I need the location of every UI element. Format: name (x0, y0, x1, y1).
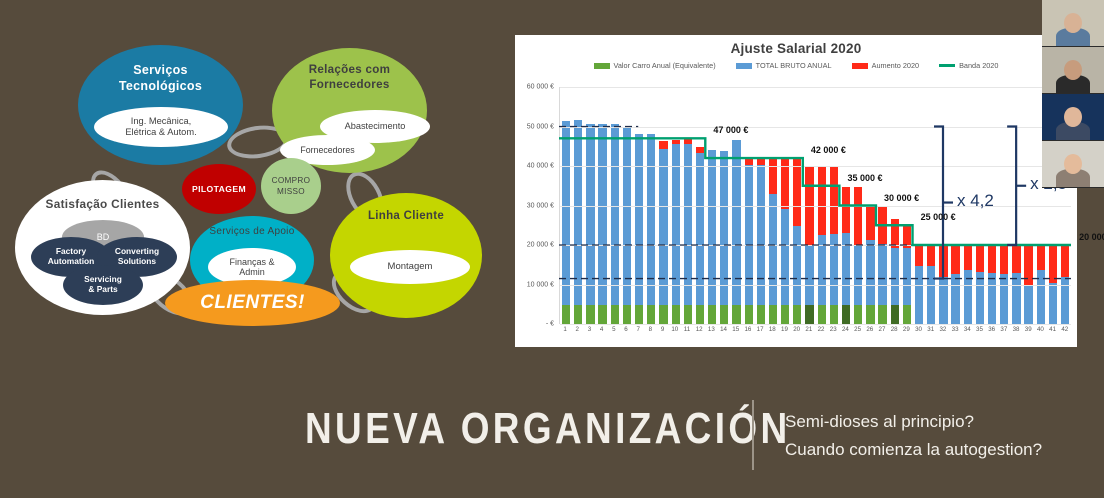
bar-segment (988, 273, 996, 324)
x-tick-label: 23 (827, 326, 839, 333)
x-tick-label: 35 (973, 326, 985, 333)
bubble-pilotagem[interactable]: PILOTAGEM (182, 164, 256, 214)
chart-title: Ajuste Salarial 2020 (515, 35, 1077, 56)
bar-segment (1037, 245, 1045, 269)
x-tick-label: 7 (632, 326, 644, 333)
x-tick-label: 41 (1047, 326, 1059, 333)
x-tick-label: 10 (669, 326, 681, 333)
bar-segment (793, 159, 801, 227)
bubble-title: COMPRO MISSO (272, 175, 311, 198)
bar-segment (623, 305, 631, 324)
bar-segment (659, 141, 667, 149)
legend-swatch (939, 64, 955, 67)
x-tick-label: 6 (620, 326, 632, 333)
bar-segment (745, 305, 753, 324)
x-tick-label: 38 (1010, 326, 1022, 333)
legend-label: Banda 2020 (959, 61, 998, 70)
legend-item: Aumento 2020 (852, 61, 919, 70)
bar-segment (720, 305, 728, 324)
bar-segment (805, 305, 813, 324)
y-tick-label: 10 000 € (527, 281, 554, 288)
x-tick-label: 9 (657, 326, 669, 333)
x-tick-label: 34 (961, 326, 973, 333)
y-tick-label: 50 000 € (527, 123, 554, 130)
bubble-linha-cliente[interactable]: Linha Cliente Montagem (330, 193, 482, 318)
bar-segment (1037, 270, 1045, 325)
bar-segment (696, 153, 704, 306)
plot (559, 87, 1071, 324)
y-axis-labels: - €10 000 €20 000 €30 000 €40 000 €50 00… (515, 87, 557, 324)
chart-legend: Valor Carro Anual (Equivalente)TOTAL BRU… (515, 61, 1077, 70)
bar-segment (586, 124, 594, 305)
bar-segment (574, 120, 582, 305)
bar-segment (878, 244, 886, 305)
bar-segment (635, 305, 643, 324)
x-tick-label: 12 (693, 326, 705, 333)
x-tick-label: 14 (717, 326, 729, 333)
bar-segment (915, 245, 923, 266)
page-title: NUEVA ORGANIZACIÓN (305, 404, 791, 454)
bar-segment (939, 245, 947, 277)
stacked-bar (720, 151, 728, 324)
stacked-bar (745, 159, 753, 324)
bubble-title: PILOTAGEM (192, 184, 246, 194)
bar-segment (647, 305, 655, 324)
bar-segment (964, 245, 972, 269)
legend-swatch (736, 63, 752, 69)
organization-diagram: Serviços Tecnológicos Ing. Mecânica, Elé… (0, 30, 500, 330)
bar-segment (1012, 245, 1020, 273)
bar-segment (878, 305, 886, 324)
chart-card: Ajuste Salarial 2020 Valor Carro Anual (… (515, 35, 1077, 347)
x-tick-label: 5 (608, 326, 620, 333)
bar-segment (878, 207, 886, 245)
x-tick-label: 4 (596, 326, 608, 333)
x-tick-label: 11 (681, 326, 693, 333)
video-tile-participant-2[interactable] (1042, 47, 1104, 94)
x-tick-label: 37 (998, 326, 1010, 333)
stacked-bar (635, 134, 643, 324)
x-tick-label: 21 (803, 326, 815, 333)
bar-segment (842, 305, 850, 324)
stacked-bar (623, 127, 631, 324)
bar-segment (976, 245, 984, 272)
bar-segment (891, 248, 899, 306)
stacked-bar (891, 219, 899, 324)
bar-segment (623, 127, 631, 305)
bar-segment (708, 305, 716, 324)
y-tick-label: - € (546, 321, 554, 328)
bar-segment (818, 167, 826, 235)
bar-segment (1012, 273, 1020, 324)
bar-segment (769, 158, 777, 194)
stacked-bar (611, 124, 619, 324)
bar-segment (659, 149, 667, 305)
bar-segment (586, 305, 594, 324)
x-tick-label: 33 (949, 326, 961, 333)
video-tile-participant-1[interactable] (1042, 0, 1104, 47)
gridline (560, 245, 1071, 246)
bar-segment (903, 305, 911, 324)
bar-segment (866, 207, 874, 240)
x-tick-label: 36 (986, 326, 998, 333)
bubble-inner-montagem[interactable]: Montagem (350, 250, 470, 284)
stacked-bar (842, 187, 850, 324)
bar-segment (757, 305, 765, 324)
participant-head (1064, 154, 1082, 174)
bar-segment (1049, 283, 1057, 324)
video-tile-participant-3[interactable] (1042, 94, 1104, 141)
stacked-bar (781, 158, 789, 324)
x-tick-label: 39 (1022, 326, 1034, 333)
x-tick-label: 42 (1059, 326, 1071, 333)
bar-segment (964, 270, 972, 325)
bar-segment (769, 305, 777, 324)
plot-area: - €10 000 €20 000 €30 000 €40 000 €50 00… (515, 87, 1077, 347)
legend-item: Valor Carro Anual (Equivalente) (594, 61, 716, 70)
bar-segment (854, 187, 862, 246)
stacked-bar (878, 207, 886, 324)
bar-segment (793, 305, 801, 324)
x-tick-label: 32 (937, 326, 949, 333)
x-tick-label: 2 (571, 326, 583, 333)
x-tick-label: 29 (900, 326, 912, 333)
stacked-bar (757, 159, 765, 324)
stacked-bar (562, 121, 570, 324)
x-tick-label: 18 (766, 326, 778, 333)
stacked-bar (586, 124, 594, 324)
stacked-bar (866, 207, 874, 324)
bubble-title: Serviços Tecnológicos (119, 63, 202, 94)
bar-segment (1024, 285, 1032, 324)
subtitle-line-2: Cuando comienza la autogestion? (785, 436, 1042, 464)
x-tick-label: 13 (705, 326, 717, 333)
legend-item: Banda 2020 (939, 61, 998, 70)
x-tick-label: 15 (730, 326, 742, 333)
bubble-satisfacao-clientes[interactable]: Satisfação Clientes BD Factory Automatio… (15, 180, 190, 315)
bar-segment (830, 167, 838, 234)
data-label: 20 000 € (1079, 232, 1104, 242)
y-tick-label: 40 000 € (527, 163, 554, 170)
bar-segment (1049, 245, 1057, 283)
bar-segment (611, 305, 619, 324)
bar-segment (854, 305, 862, 324)
legend-label: TOTAL BRUTO ANUAL (756, 61, 832, 70)
stacked-bar (732, 140, 740, 324)
bar-segment (818, 305, 826, 324)
bar-segment (720, 151, 728, 306)
gridline (560, 166, 1071, 167)
legend-swatch (594, 63, 610, 69)
x-tick-label: 3 (583, 326, 595, 333)
stacked-bar (574, 120, 582, 324)
bar-segment (769, 194, 777, 306)
bar-segment (951, 274, 959, 324)
bar-segment (598, 124, 606, 305)
bar-segment (684, 305, 692, 324)
bar-segment (611, 124, 619, 305)
bubble-compromisso[interactable]: COMPRO MISSO (261, 158, 321, 214)
subtitle: Semi-dioses al principio? Cuando comienz… (785, 408, 1042, 464)
gridline (560, 285, 1071, 286)
x-tick-label: 30 (912, 326, 924, 333)
bar-segment (708, 150, 716, 306)
video-tile-participant-4[interactable] (1042, 141, 1104, 188)
stacked-bar (854, 187, 862, 324)
participant-head (1064, 107, 1082, 127)
bar-segment (1000, 274, 1008, 324)
gridline (560, 87, 1071, 88)
bar-segment (574, 305, 582, 324)
bubble-clientes[interactable]: CLIENTES! (165, 280, 340, 326)
video-participant-strip[interactable] (1042, 0, 1104, 186)
bar-segment (672, 144, 680, 305)
stacked-bar (598, 124, 606, 324)
bar-segment (951, 245, 959, 274)
title-divider (752, 400, 754, 470)
x-tick-label: 40 (1034, 326, 1046, 333)
bar-segment (598, 305, 606, 324)
bar-segment (903, 248, 911, 305)
x-tick-label: 25 (852, 326, 864, 333)
bar-segment (562, 305, 570, 324)
bar-segment (647, 134, 655, 306)
legend-swatch (852, 63, 868, 69)
bar-segment (927, 245, 935, 266)
bar-segment (866, 305, 874, 324)
stacked-bar (708, 150, 716, 324)
bar-segment (891, 305, 899, 324)
bar-segment (891, 219, 899, 248)
participant-head (1064, 60, 1082, 80)
bar-segment (1061, 245, 1069, 277)
bar-segment (805, 245, 813, 305)
bar-segment (866, 240, 874, 306)
bar-segment (1024, 245, 1032, 285)
stacked-bar (793, 159, 801, 325)
bar-segment (781, 209, 789, 305)
bar-segment (1000, 245, 1008, 274)
stacked-bar (903, 226, 911, 324)
stacked-bar (647, 134, 655, 324)
stacked-bar (672, 140, 680, 324)
bar-segment (696, 305, 704, 324)
gridline (560, 324, 1071, 325)
child-servicing-parts[interactable]: Servicing & Parts (63, 265, 143, 305)
x-tick-label: 26 (864, 326, 876, 333)
bar-segment (635, 134, 643, 306)
slide-root: Serviços Tecnológicos Ing. Mecânica, Elé… (0, 0, 1104, 498)
gridline (560, 206, 1071, 207)
x-tick-label: 19 (778, 326, 790, 333)
bar-segment (672, 305, 680, 324)
bar-segment (927, 266, 935, 324)
x-axis-labels: 1234567891011121314151617181920212223242… (559, 326, 1071, 333)
bubble-inner-ing-mecanica[interactable]: Ing. Mecânica, Elétrica & Autom. (94, 107, 228, 147)
bar-segment (854, 246, 862, 305)
bar-segment (842, 187, 850, 233)
bar-segment (842, 233, 850, 306)
bubble-title: Linha Cliente (368, 210, 444, 222)
bar-segment (830, 305, 838, 324)
bubble-title: CLIENTES! (200, 292, 305, 314)
legend-label: Valor Carro Anual (Equivalente) (614, 61, 716, 70)
y-tick-label: 30 000 € (527, 202, 554, 209)
bubble-title: Relações com Fornecedores (309, 62, 391, 92)
bar-segment (915, 266, 923, 324)
x-tick-label: 28 (888, 326, 900, 333)
x-tick-label: 8 (644, 326, 656, 333)
bar-segment (732, 305, 740, 324)
y-tick-label: 60 000 € (527, 84, 554, 91)
bubble-title: Serviços de Apoio (209, 226, 294, 237)
y-tick-label: 20 000 € (527, 242, 554, 249)
bar-segment (659, 305, 667, 324)
x-tick-label: 31 (925, 326, 937, 333)
x-tick-label: 1 (559, 326, 571, 333)
stacked-bar (769, 158, 777, 324)
stacked-bar (696, 147, 704, 324)
x-tick-label: 16 (742, 326, 754, 333)
bar-segment (976, 272, 984, 324)
bar-segment (562, 121, 570, 305)
bar-segment (684, 144, 692, 306)
x-tick-label: 22 (815, 326, 827, 333)
bubble-relacoes-com-fornecedores[interactable]: Relações com Fornecedores Abastecimento … (272, 48, 427, 173)
participant-head (1064, 13, 1082, 33)
bubble-servicos-tecnologicos[interactable]: Serviços Tecnológicos Ing. Mecânica, Elé… (78, 45, 243, 165)
x-tick-label: 17 (754, 326, 766, 333)
bar-segment (781, 305, 789, 324)
legend-item: TOTAL BRUTO ANUAL (736, 61, 832, 70)
bubble-title: Satisfação Clientes (46, 197, 160, 211)
x-tick-label: 27 (876, 326, 888, 333)
bar-segment (793, 226, 801, 305)
x-tick-label: 20 (791, 326, 803, 333)
legend-label: Aumento 2020 (872, 61, 919, 70)
x-tick-label: 24 (839, 326, 851, 333)
subtitle-line-1: Semi-dioses al principio? (785, 408, 1042, 436)
stacked-bar (659, 141, 667, 324)
gridline (560, 127, 1071, 128)
bar-segment (988, 245, 996, 273)
